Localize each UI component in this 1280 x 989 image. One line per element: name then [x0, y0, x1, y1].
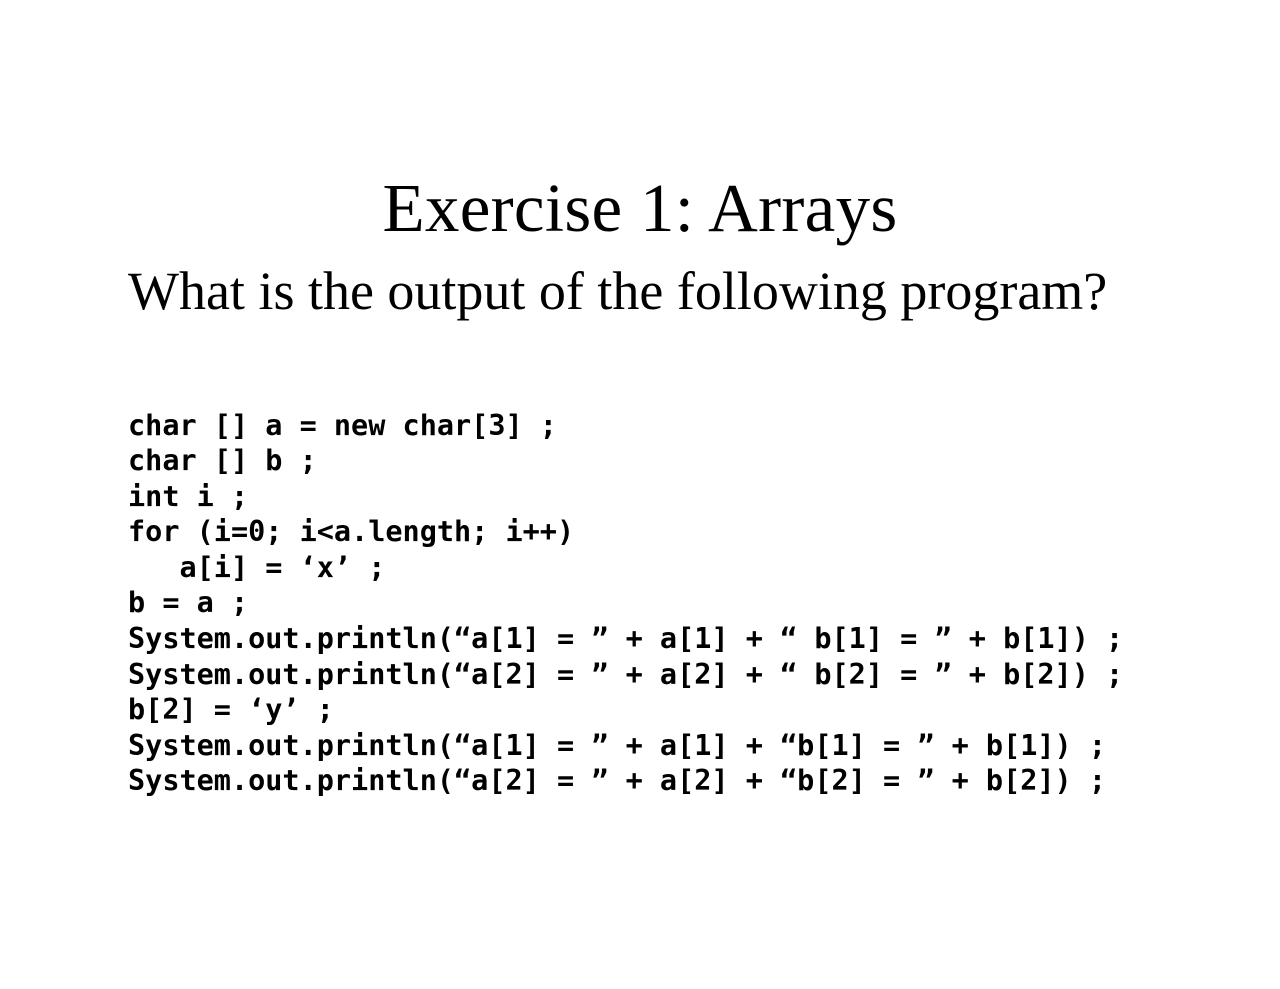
code-line: System.out.println(“a[2] = ” + a[2] + “ … [128, 657, 1228, 693]
code-line: System.out.println(“a[1] = ” + a[1] + “ … [128, 621, 1228, 657]
page-title: Exercise 1: Arrays [0, 172, 1280, 244]
code-line: b = a ; [128, 585, 1228, 621]
slide-canvas: Exercise 1: Arrays What is the output of… [0, 0, 1280, 989]
code-line: a[i] = ‘x’ ; [128, 550, 1228, 586]
question-text: What is the output of the following prog… [128, 262, 1188, 321]
code-line: System.out.println(“a[2] = ” + a[2] + “b… [128, 763, 1228, 799]
code-line: b[2] = ‘y’ ; [128, 692, 1228, 728]
code-listing: char [] a = new char[3] ;char [] b ;int … [128, 408, 1228, 800]
code-block: char [] a = new char[3] ;char [] b ;int … [128, 408, 1228, 800]
code-line: System.out.println(“a[1] = ” + a[1] + “b… [128, 728, 1228, 764]
code-line: for (i=0; i<a.length; i++) [128, 514, 1228, 550]
code-line: int i ; [128, 479, 1228, 515]
code-line: char [] b ; [128, 443, 1228, 479]
code-line: char [] a = new char[3] ; [128, 408, 1228, 444]
